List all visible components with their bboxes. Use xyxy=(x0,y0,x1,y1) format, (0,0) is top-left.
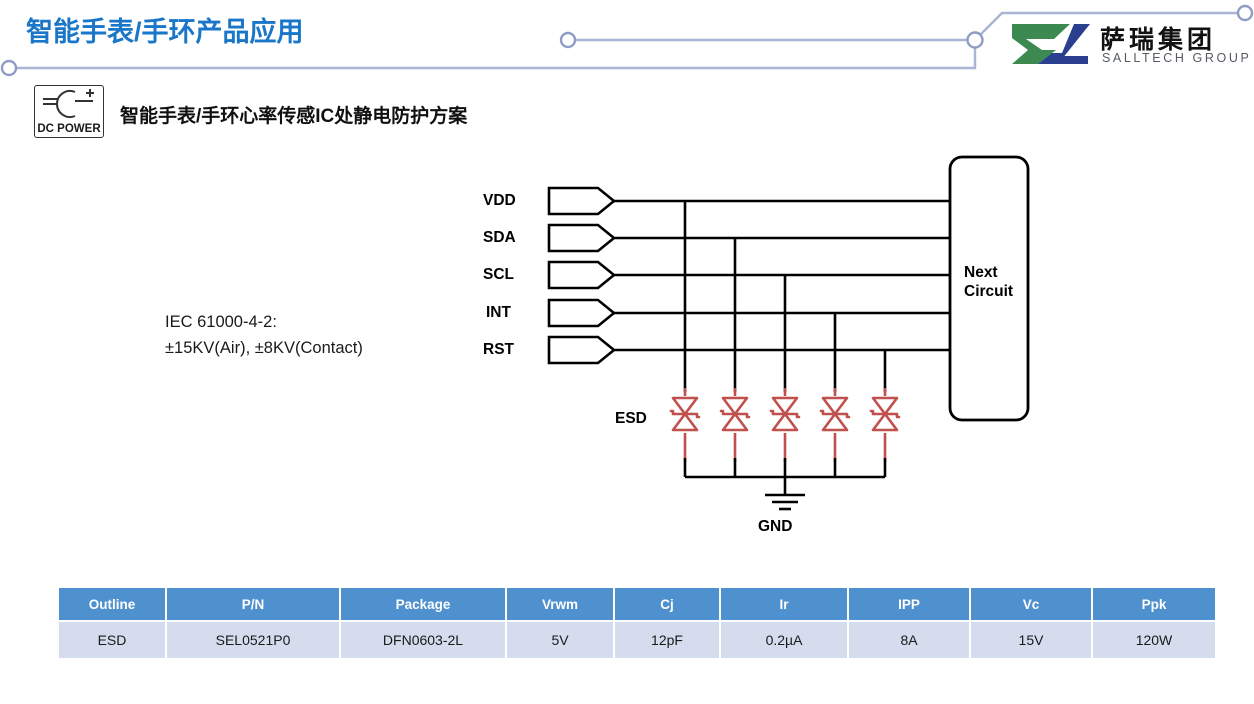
cell-outline: ESD xyxy=(59,622,165,658)
cell-ir: 0.2µA xyxy=(721,622,847,658)
cell-vrwm: 5V xyxy=(507,622,613,658)
column-header-ipp: IPP xyxy=(849,588,969,620)
column-header-vrwm: Vrwm xyxy=(507,588,613,620)
column-header-vc: Vc xyxy=(971,588,1091,620)
cell-ipp: 8A xyxy=(849,622,969,658)
table-row: ESD SEL0521P0 DFN0603-2L 5V 12pF 0.2µA 8… xyxy=(59,622,1215,658)
cell-ppk: 120W xyxy=(1093,622,1215,658)
ground-icon xyxy=(765,495,805,509)
cell-package: DFN0603-2L xyxy=(341,622,505,658)
column-header-package: Package xyxy=(341,588,505,620)
pin-label-sda: SDA xyxy=(483,229,516,247)
pin-label-int: INT xyxy=(486,304,511,322)
next-circuit-label-line1: Next xyxy=(964,264,998,282)
cell-vc: 15V xyxy=(971,622,1091,658)
pin-label-vdd: VDD xyxy=(483,192,516,210)
column-header-pn: P/N xyxy=(167,588,339,620)
cell-cj: 12pF xyxy=(615,622,719,658)
table-header-row: Outline P/N Package Vrwm Cj Ir IPP Vc Pp… xyxy=(59,588,1215,620)
column-header-outline: Outline xyxy=(59,588,165,620)
esd-diode-group xyxy=(671,398,899,430)
column-header-cj: Cj xyxy=(615,588,719,620)
pin-label-rst: RST xyxy=(483,341,514,359)
esd-label: ESD xyxy=(615,410,647,428)
next-circuit-label-line2: Circuit xyxy=(964,283,1013,301)
spec-table: Outline P/N Package Vrwm Cj Ir IPP Vc Pp… xyxy=(57,586,1217,660)
cell-pn: SEL0521P0 xyxy=(167,622,339,658)
column-header-ppk: Ppk xyxy=(1093,588,1215,620)
column-header-ir: Ir xyxy=(721,588,847,620)
gnd-label: GND xyxy=(758,518,792,536)
slide-page: 智能手表/手环产品应用 萨瑞集团 SALLTECH GROUP DC POWER… xyxy=(0,0,1254,704)
pin-label-scl: SCL xyxy=(483,266,514,284)
esd-protection-schematic xyxy=(0,0,1254,570)
